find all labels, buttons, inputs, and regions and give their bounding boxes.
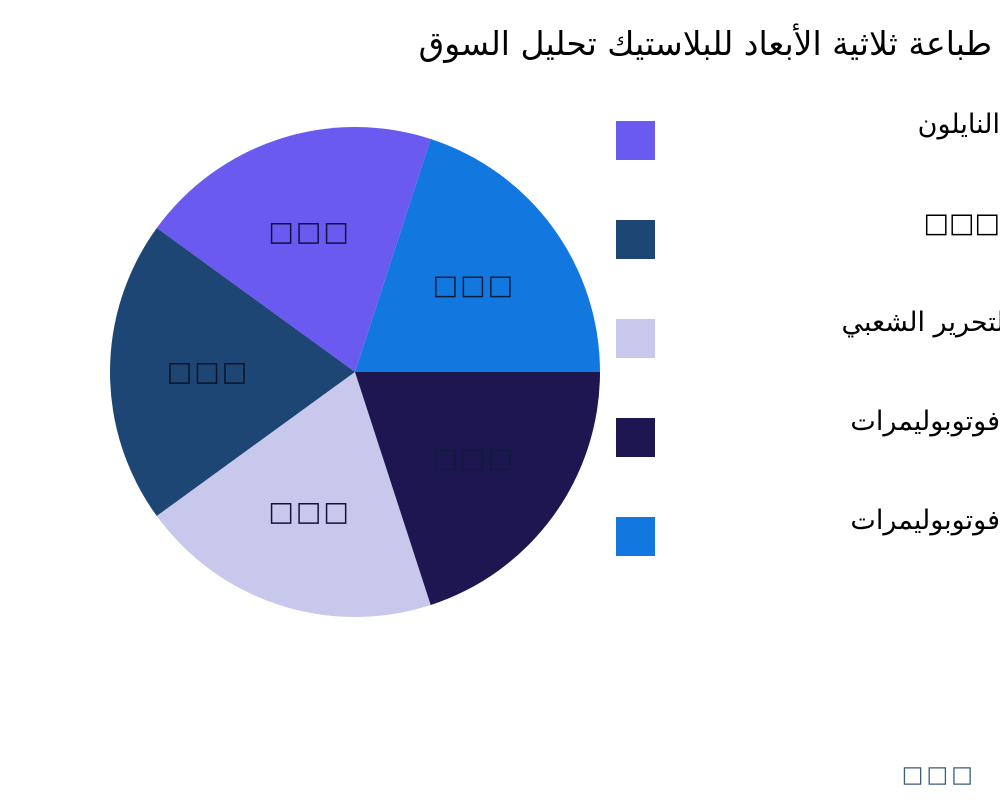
legend-item-label: فوتوبوليمرات (676, 503, 1000, 539)
legend-color-swatch (616, 517, 655, 556)
pie-slice-label: □□□ (433, 443, 516, 474)
legend-item[interactable]: النايلون (614, 113, 1000, 211)
chart-page: طباعة ثلاثية الأبعاد للبلاستيك تحليل الس… (0, 0, 1000, 800)
pie-slice-label: □□□ (268, 496, 351, 527)
pie-slice-label: □□□ (167, 357, 250, 388)
legend-item[interactable]: فوتوبوليمرات (614, 509, 1000, 607)
legend: النايلون□□□جيش التحرير الشعبي الصينىفوتو… (614, 113, 1000, 583)
legend-item-label: فوتوبوليمرات (676, 404, 1000, 440)
legend-item-label: □□□ (676, 206, 1000, 242)
legend-color-swatch (616, 121, 655, 160)
legend-color-swatch (616, 220, 655, 259)
footer-note: □□□ (902, 762, 976, 788)
pie-chart: □□□□□□□□□□□□□□□ (110, 127, 600, 617)
pie-svg: □□□□□□□□□□□□□□□ (110, 127, 600, 617)
pie-slice-label: □□□ (268, 217, 351, 248)
legend-item-label: جيش التحرير الشعبي الصينى (676, 305, 1000, 377)
pie-slice-label: □□□ (433, 270, 516, 301)
legend-item-label: النايلون (676, 107, 1000, 143)
legend-item[interactable]: □□□ (614, 212, 1000, 310)
page-title: طباعة ثلاثية الأبعاد للبلاستيك تحليل الس… (0, 22, 1000, 66)
legend-item[interactable]: فوتوبوليمرات (614, 410, 1000, 508)
legend-item[interactable]: جيش التحرير الشعبي الصينى (614, 311, 1000, 409)
legend-color-swatch (616, 418, 655, 457)
legend-color-swatch (616, 319, 655, 358)
